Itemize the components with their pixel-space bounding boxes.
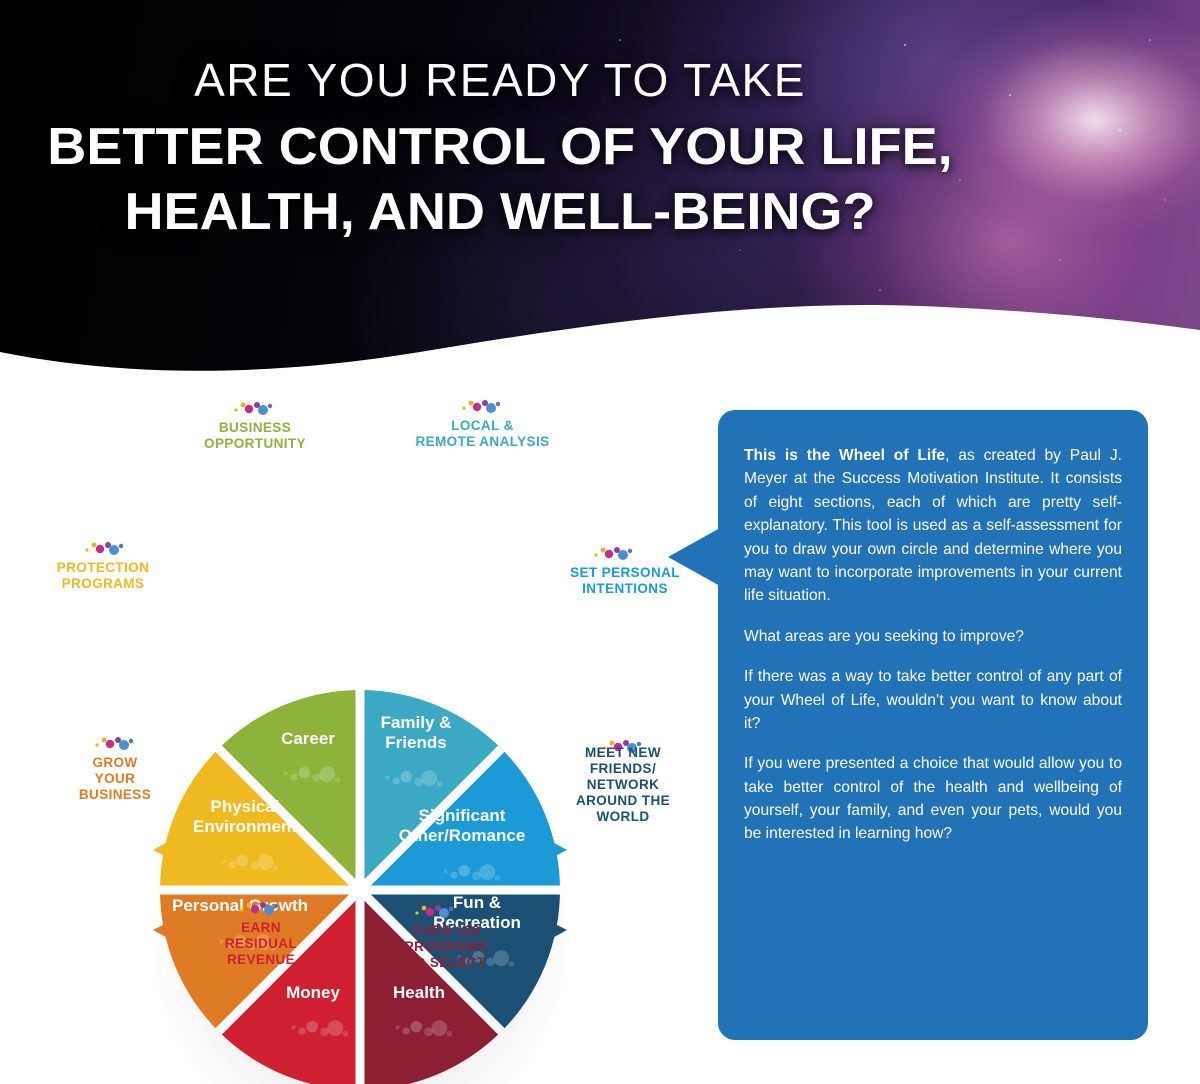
confetti-icon <box>460 398 506 416</box>
panel-paragraph-1-bold: This is the Wheel of Life <box>744 447 945 464</box>
confetti-icon <box>413 903 459 921</box>
header-line-3: HEALTH, AND WELL-BEING? <box>0 183 1020 241</box>
callout-earn-residual-revenue: EARN RESIDUAL REVENUE <box>196 920 326 968</box>
confetti-icon <box>83 540 129 558</box>
header-text-block: ARE YOU READY TO TAKE BETTER CONTROL OF … <box>0 54 1000 241</box>
callout-local-remote-analysis: LOCAL & REMOTE ANALYSIS <box>400 418 565 450</box>
panel-paragraph-1: This is the Wheel of Life, as created by… <box>744 444 1122 608</box>
segment-label-fun-recreation-1: Fun & <box>453 893 501 912</box>
confetti-icon <box>238 900 284 918</box>
panel-paragraph-3: If there was a way to take better contro… <box>744 665 1122 735</box>
panel-paragraph-2: What areas are you seeking to improve? <box>744 625 1122 648</box>
segment-label-health: Health <box>393 983 445 1002</box>
panel-paragraph-4: If you were presented a choice that woul… <box>744 752 1122 846</box>
segment-label-physical-environment-2: Environment <box>193 817 297 836</box>
info-panel: This is the Wheel of Life, as created by… <box>718 410 1148 1040</box>
wheel-spokes <box>160 690 560 1084</box>
panel-pointer-arrow <box>668 528 720 586</box>
segment-label-family-friends-2: Friends <box>385 733 446 752</box>
header-line-2: BETTER CONTROL OF YOUR LIFE, <box>0 118 1020 176</box>
callout-meet-new-friends: MEET NEW FRIENDS/ NETWORK AROUND THE WOR… <box>563 745 683 825</box>
wheel-of-life-diagram: Career Family & Friends Significant Othe… <box>0 380 700 1084</box>
callout-business-opportunity: BUSINESS OPPORTUNITY <box>180 420 330 452</box>
segment-label-money: Money <box>286 983 340 1002</box>
callout-protection-programs: PROTECTION PROGRAMS <box>28 560 178 592</box>
segment-label-career: Career <box>281 729 335 748</box>
segment-label-family-friends-1: Family & <box>381 713 452 732</box>
confetti-icon <box>93 735 139 753</box>
header-banner: ARE YOU READY TO TAKE BETTER CONTROL OF … <box>0 0 1200 380</box>
panel-paragraph-1-rest: , as created by Paul J. Meyer at the Suc… <box>744 447 1122 604</box>
callout-grow-your-business: GROW YOUR BUSINESS <box>56 755 174 803</box>
callout-over-120-programs: OVER 120 PROGRAMS TO SELECT <box>375 923 517 971</box>
confetti-icon <box>592 545 638 563</box>
confetti-icon <box>232 400 278 418</box>
header-line-1: ARE YOU READY TO TAKE <box>0 54 1000 106</box>
